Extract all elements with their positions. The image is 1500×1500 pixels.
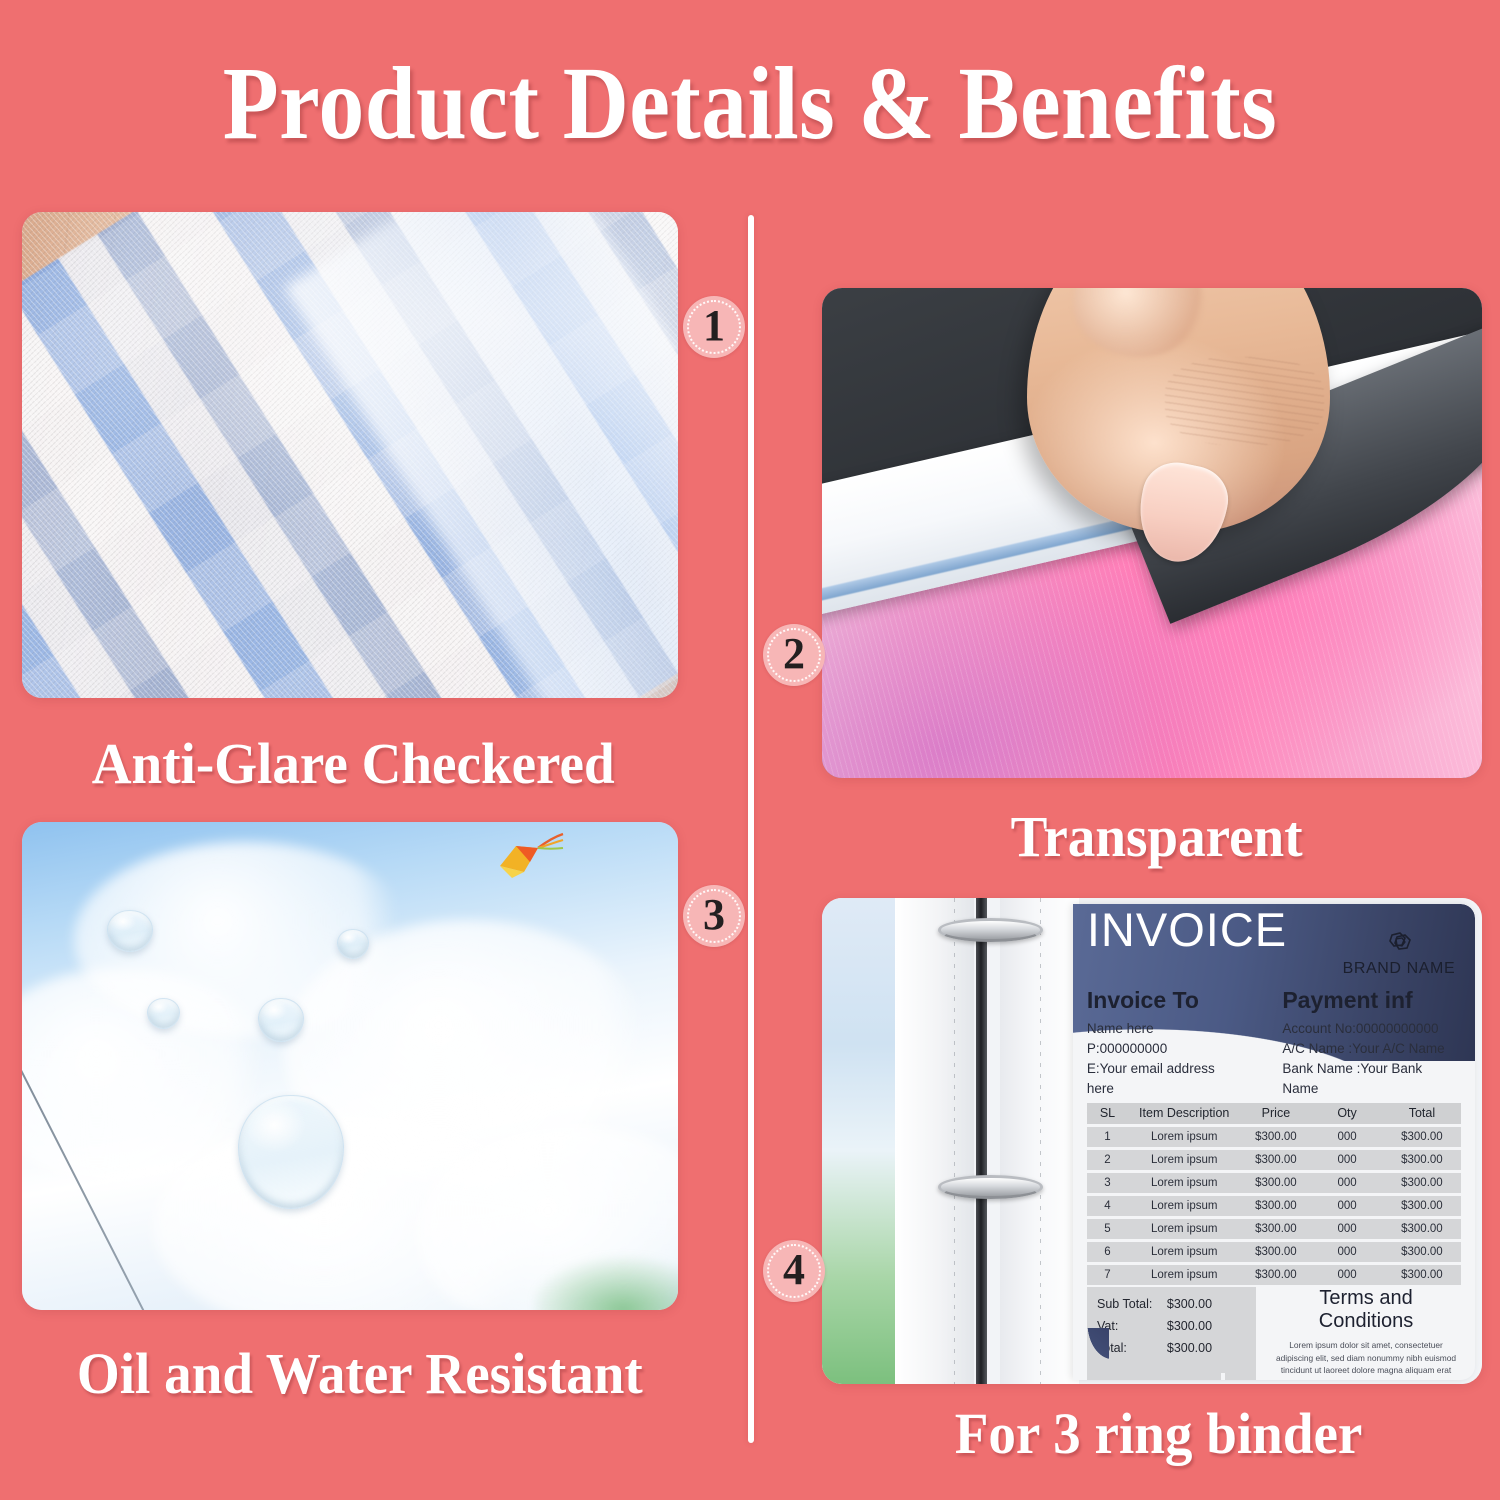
feature-image-transparent (822, 288, 1482, 778)
cell-qty: 000 (1311, 1246, 1382, 1258)
invoice-footer: Sub Total: $300.00 Vat: $300.00 Total: $… (1087, 1287, 1461, 1380)
bill-to-line: P:000000000 (1087, 1039, 1245, 1059)
table-row: 5 Lorem ipsum $300.00 000 $300.00 (1087, 1219, 1461, 1239)
column-header-total: Total (1383, 1106, 1462, 1120)
binder-rod (976, 898, 987, 1384)
water-droplet (147, 998, 180, 1029)
cell-description: Lorem ipsum (1128, 1131, 1240, 1143)
column-header-sl: SL (1087, 1106, 1128, 1120)
invoice-bill-to: Invoice To Name here P:000000000 E:Your … (1087, 987, 1245, 1119)
invoice-title: INVOICE (1087, 906, 1287, 953)
bill-to-line: E:Your email address here (1087, 1059, 1245, 1099)
feature-image-oil-water-resistant (22, 822, 678, 1310)
cell-sl: 1 (1087, 1131, 1128, 1143)
payment-line: A/C Name :Your A/C Name (1282, 1039, 1461, 1059)
cell-qty: 000 (1311, 1154, 1382, 1166)
column-header-qty: Oty (1311, 1106, 1382, 1120)
cell-sl: 4 (1087, 1200, 1128, 1212)
cell-price: $300.00 (1240, 1223, 1311, 1235)
step-badge-1: 1 (683, 296, 745, 358)
cell-price: $300.00 (1240, 1131, 1311, 1143)
cell-sl: 2 (1087, 1154, 1128, 1166)
invoice-sheet: INVOICE BRAND NAME Invoice To Name here … (1073, 904, 1476, 1380)
totals-row: Vat: $300.00 (1087, 1315, 1256, 1337)
table-row: 4 Lorem ipsum $300.00 000 $300.00 (1087, 1196, 1461, 1216)
payment-heading: Payment inf (1282, 987, 1461, 1014)
payment-line: Bank Name :Your Bank Name (1282, 1059, 1461, 1099)
cell-qty: 000 (1311, 1223, 1382, 1235)
cell-description: Lorem ipsum (1128, 1154, 1240, 1166)
feature-caption-2: Transparent (1011, 808, 1303, 866)
bill-to-line: Name here (1087, 1019, 1245, 1039)
step-badge-3: 3 (683, 885, 745, 947)
invoice-terms: Terms and Conditions Lorem ipsum dolor s… (1256, 1287, 1461, 1380)
cell-price: $300.00 (1240, 1154, 1311, 1166)
cell-description: Lorem ipsum (1128, 1246, 1240, 1258)
bill-to-heading: Invoice To (1087, 987, 1245, 1014)
infographic-canvas: Product Details & Benefits (0, 0, 1500, 1500)
cell-description: Lorem ipsum (1128, 1177, 1240, 1189)
colored-pages (822, 898, 895, 1384)
binder-ring (938, 1175, 1043, 1198)
totals-value: $300.00 (1167, 1319, 1246, 1333)
invoice-totals: Sub Total: $300.00 Vat: $300.00 Total: $… (1087, 1287, 1256, 1380)
terms-heading: Terms and Conditions (1271, 1287, 1462, 1333)
cell-qty: 000 (1311, 1177, 1382, 1189)
cell-price: $300.00 (1240, 1246, 1311, 1258)
cell-sl: 7 (1087, 1269, 1128, 1281)
binder-spine-left (895, 898, 974, 1384)
table-header-row: SL Item Description Price Oty Total (1087, 1103, 1461, 1124)
cell-total: $300.00 (1383, 1177, 1462, 1189)
feature-caption-1: Anti-Glare Checkered (92, 735, 615, 793)
sheet-glare (22, 212, 678, 698)
cell-sl: 6 (1087, 1246, 1128, 1258)
totals-row: Total: $300.00 (1087, 1337, 1256, 1359)
step-badge-3-number: 3 (703, 893, 725, 937)
totals-value: $300.00 (1167, 1297, 1246, 1311)
cell-sl: 3 (1087, 1177, 1128, 1189)
terms-body: Lorem ipsum dolor sit amet, consectetuer… (1271, 1339, 1462, 1380)
cell-sl: 5 (1087, 1223, 1128, 1235)
invoice-corner-accent (1073, 1328, 1109, 1380)
totals-label: Sub Total: (1097, 1297, 1167, 1311)
table-row: 2 Lorem ipsum $300.00 000 $300.00 (1087, 1150, 1461, 1170)
cell-description: Lorem ipsum (1128, 1269, 1240, 1281)
feature-caption-4: For 3 ring binder (955, 1405, 1363, 1463)
column-header-price: Price (1240, 1106, 1311, 1120)
invoice-brand-name: BRAND NAME (1343, 960, 1456, 978)
cell-qty: 000 (1311, 1200, 1382, 1212)
table-row: 6 Lorem ipsum $300.00 000 $300.00 (1087, 1242, 1461, 1262)
cell-qty: 000 (1311, 1269, 1382, 1281)
invoice-payment-info: Payment inf Account No:00000000000 A/C N… (1282, 987, 1461, 1119)
cell-price: $300.00 (1240, 1269, 1311, 1281)
perforation-line (954, 898, 955, 1384)
column-header-description: Item Description (1128, 1106, 1240, 1120)
cell-total: $300.00 (1383, 1269, 1462, 1281)
cell-price: $300.00 (1240, 1200, 1311, 1212)
totals-row: Sub Total: $300.00 (1087, 1293, 1256, 1315)
step-badge-4-number: 4 (783, 1248, 805, 1292)
rose-monogram-logo-icon (1379, 930, 1419, 958)
step-badge-1-number: 1 (703, 304, 725, 348)
step-badge-4: 4 (763, 1240, 825, 1302)
invoice-parties: Invoice To Name here P:000000000 E:Your … (1087, 987, 1461, 1119)
feature-image-three-ring-binder: INVOICE BRAND NAME Invoice To Name here … (822, 898, 1482, 1384)
invoice-line-items-table: SL Item Description Price Oty Total 1 Lo… (1087, 1103, 1461, 1288)
cell-qty: 000 (1311, 1131, 1382, 1143)
cell-total: $300.00 (1383, 1131, 1462, 1143)
table-row: 3 Lorem ipsum $300.00 000 $300.00 (1087, 1173, 1461, 1193)
cell-description: Lorem ipsum (1128, 1200, 1240, 1212)
cell-total: $300.00 (1383, 1223, 1462, 1235)
perforation-line (1040, 898, 1041, 1384)
table-row: 7 Lorem ipsum $300.00 000 $300.00 (1087, 1265, 1461, 1285)
cell-price: $300.00 (1240, 1177, 1311, 1189)
green-field-hint (534, 1232, 678, 1310)
table-row: 1 Lorem ipsum $300.00 000 $300.00 (1087, 1127, 1461, 1147)
vertical-divider (748, 215, 754, 1443)
binder-ring (938, 918, 1043, 941)
invoice-brand: BRAND NAME (1343, 930, 1456, 978)
feature-caption-3: Oil and Water Resistant (77, 1345, 643, 1403)
step-badge-2-number: 2 (783, 632, 805, 676)
totals-value: $300.00 (1167, 1341, 1246, 1355)
cell-total: $300.00 (1383, 1246, 1462, 1258)
water-droplet (258, 998, 304, 1042)
kite-icon (494, 832, 564, 880)
cell-description: Lorem ipsum (1128, 1223, 1240, 1235)
cell-total: $300.00 (1383, 1154, 1462, 1166)
step-badge-2: 2 (763, 624, 825, 686)
feature-image-anti-glare-checkered (22, 212, 678, 698)
cell-total: $300.00 (1383, 1200, 1462, 1212)
finger-wrinkles (1165, 357, 1323, 445)
payment-line: Account No:00000000000 (1282, 1019, 1461, 1039)
page-title: Product Details & Benefits (90, 52, 1410, 156)
